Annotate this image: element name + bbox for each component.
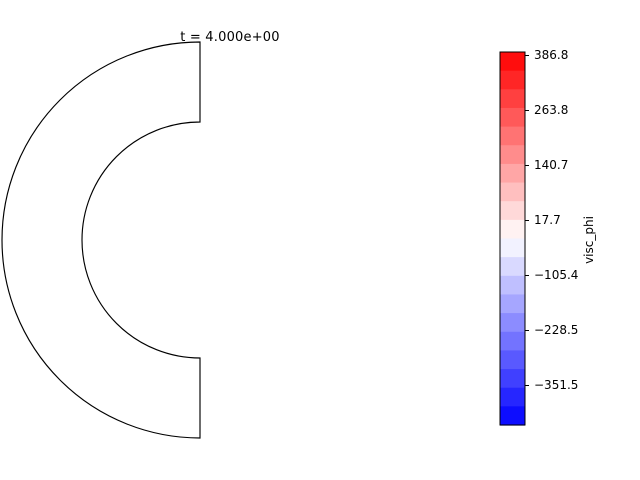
- contour-cell: [211, 106, 213, 107]
- contour-cell: [236, 352, 238, 353]
- contour-cell: [243, 359, 245, 360]
- contour-cell: [292, 313, 294, 315]
- contour-cell: [309, 179, 311, 181]
- contour-cell: [260, 359, 262, 361]
- contour-cell: [317, 192, 319, 194]
- contour-cell: [237, 108, 239, 109]
- contour-cell: [290, 328, 292, 330]
- contour-cell: [270, 137, 272, 139]
- contour-cell: [274, 332, 276, 334]
- contour-cell: [336, 236, 337, 238]
- contour-cell: [317, 220, 318, 222]
- contour-cell: [330, 277, 331, 279]
- contour-cell: [310, 184, 312, 186]
- contour-cell: [321, 247, 322, 249]
- contour-cell: [230, 121, 232, 122]
- contour-cell: [204, 375, 206, 376]
- contour-cell: [310, 195, 311, 197]
- contour-cell: [207, 374, 209, 375]
- contour-cell: [275, 348, 277, 350]
- contour-cell: [209, 103, 211, 104]
- contour-cell: [307, 325, 309, 327]
- contour-cell: [274, 132, 276, 134]
- contour-cell: [254, 360, 256, 362]
- contour-cell: [238, 123, 240, 124]
- contour-cell: [272, 134, 274, 136]
- contour-cell: [222, 107, 224, 108]
- contour-cell: [282, 332, 284, 334]
- contour-cell: [302, 161, 304, 163]
- contour-cell: [285, 155, 287, 157]
- contour-cell: [288, 161, 290, 163]
- contour-cell: [299, 154, 301, 156]
- contour-cell: [214, 365, 216, 366]
- contour-cell: [332, 211, 333, 213]
- contour-cell: [306, 296, 308, 298]
- contour-cell: [335, 246, 336, 248]
- contour-cell: [311, 199, 312, 201]
- contour-cell: [217, 113, 219, 114]
- contour-cell: [285, 148, 287, 150]
- contour-cell: [309, 167, 311, 169]
- contour-cell: [266, 140, 268, 142]
- contour-cell: [253, 362, 255, 364]
- contour-cell: [295, 325, 297, 327]
- contour-cell: [281, 326, 283, 328]
- contour-cell: [307, 174, 309, 176]
- contour-cell: [203, 361, 205, 362]
- contour-cell: [261, 354, 263, 356]
- contour-cell: [329, 267, 330, 269]
- contour-cell: [291, 159, 293, 161]
- contour-cell: [335, 260, 336, 262]
- contour-cell: [288, 158, 290, 160]
- contour-cell: [317, 189, 319, 191]
- contour-cell: [203, 116, 205, 117]
- contour-cell: [293, 145, 295, 147]
- contour-cell: [277, 337, 279, 339]
- contour-cell: [262, 131, 264, 133]
- contour-cell: [211, 122, 213, 123]
- contour-cell: [295, 155, 297, 157]
- contour-cell: [318, 266, 319, 268]
- contour-cell: [295, 314, 297, 316]
- contour-cell: [231, 357, 233, 358]
- contour-cell: [223, 369, 225, 370]
- contour-cell: [319, 292, 321, 294]
- contour-cell: [322, 216, 323, 218]
- contour-cell: [226, 357, 228, 358]
- contour-cell: [291, 152, 293, 154]
- contour-cell: [334, 262, 335, 264]
- contour-cell: [269, 136, 271, 138]
- contour-cell: [229, 122, 231, 123]
- contour-cell: [320, 267, 321, 269]
- contour-cell: [318, 282, 319, 284]
- contour-cell: [318, 189, 320, 191]
- contour-cell: [231, 122, 233, 123]
- contour-cell: [328, 265, 329, 267]
- contour-cell: [288, 153, 290, 155]
- contour-cell: [280, 129, 282, 131]
- contour-cell: [226, 107, 228, 108]
- contour-cell: [284, 136, 286, 138]
- contour-cell: [305, 324, 307, 326]
- contour-cell: [250, 349, 252, 351]
- contour-cell: [264, 123, 266, 125]
- contour-cell: [315, 308, 317, 310]
- contour-cell: [204, 105, 206, 106]
- contour-cell: [216, 369, 218, 370]
- contour-cell: [321, 283, 322, 285]
- contour-cell: [270, 135, 272, 137]
- contour-cell: [231, 109, 233, 110]
- contour-cell: [329, 256, 330, 258]
- contour-cell: [313, 175, 315, 177]
- contour-cell: [226, 356, 228, 357]
- contour-cell: [294, 154, 296, 156]
- contour-cell: [325, 237, 326, 239]
- contour-cell: [328, 231, 329, 233]
- contour-cell: [227, 368, 229, 369]
- contour-cell: [253, 121, 255, 123]
- contour-cell: [248, 357, 250, 359]
- contour-cell: [250, 351, 252, 353]
- contour-cell: [274, 143, 276, 145]
- contour-cell: [211, 120, 213, 121]
- contour-cell: [320, 260, 321, 262]
- contour-cell: [299, 320, 301, 322]
- contour-cell: [306, 316, 308, 318]
- contour-cell: [299, 159, 301, 161]
- contour-cell: [231, 369, 233, 370]
- contour-cell: [234, 124, 236, 125]
- contour-cell: [320, 218, 321, 220]
- contour-cell: [213, 122, 215, 123]
- contour-cell: [205, 363, 207, 364]
- contour-cell: [244, 130, 246, 131]
- contour-cell: [335, 259, 336, 261]
- contour-cell: [323, 252, 324, 254]
- contour-cell: [273, 136, 275, 138]
- contour-cell: [332, 267, 333, 269]
- contour-cell: [252, 347, 254, 349]
- contour-cell: [323, 300, 325, 302]
- contour-cell: [265, 125, 267, 127]
- contour-cell: [317, 214, 318, 216]
- contour-cell: [205, 372, 207, 373]
- contour-cell: [269, 345, 271, 347]
- contour-cell: [325, 271, 326, 273]
- contour-cell: [252, 132, 254, 134]
- contour-cell: [305, 305, 307, 307]
- contour-cell: [309, 289, 311, 291]
- contour-cell: [265, 353, 267, 355]
- contour-cell: [297, 147, 299, 149]
- contour-cell: [245, 122, 247, 124]
- contour-cell: [323, 284, 324, 286]
- contour-cell: [300, 160, 302, 162]
- contour-cell: [306, 295, 308, 297]
- contour-cell: [288, 328, 290, 330]
- contour-cell: [289, 335, 291, 337]
- contour-cell: [232, 110, 234, 111]
- contour-cell: [293, 339, 295, 341]
- contour-cell: [268, 354, 270, 356]
- contour-cell: [289, 332, 291, 334]
- contour-cell: [279, 329, 281, 331]
- contour-cell: [211, 357, 213, 358]
- contour-cell: [330, 233, 331, 235]
- contour-cell: [291, 329, 293, 331]
- contour-cell: [315, 304, 317, 306]
- contour-cell: [303, 160, 305, 162]
- contour-cell: [274, 338, 276, 340]
- contour-cell: [316, 262, 317, 264]
- contour-cell: [248, 353, 250, 355]
- contour-cell: [311, 159, 313, 161]
- contour-cell: [327, 212, 328, 214]
- contour-cell: [334, 231, 335, 233]
- contour-cell: [231, 363, 233, 364]
- contour-cell: [286, 339, 288, 341]
- contour-cell: [301, 159, 303, 161]
- contour-cell: [327, 280, 328, 282]
- contour-cell: [302, 180, 304, 182]
- contour-cell: [319, 253, 320, 255]
- contour-cell: [287, 327, 289, 329]
- contour-cell: [337, 242, 338, 244]
- contour-cell: [309, 301, 311, 303]
- contour-cell: [312, 297, 314, 299]
- contour-cell: [284, 144, 286, 146]
- contour-cell: [334, 212, 335, 214]
- contour-cell: [306, 309, 308, 311]
- contour-cell: [251, 126, 253, 128]
- contour-cell: [285, 140, 287, 142]
- contour-cell: [292, 318, 294, 320]
- contour-cell: [314, 290, 316, 292]
- contour-cell: [278, 149, 280, 151]
- contour-cell: [315, 302, 317, 304]
- contour-cell: [323, 260, 324, 262]
- contour-cell: [313, 201, 314, 203]
- contour-cell: [318, 224, 319, 226]
- contour-cell: [248, 128, 250, 130]
- contour-cell: [335, 233, 336, 235]
- contour-cell: [329, 226, 330, 228]
- contour-cell: [321, 253, 322, 255]
- contour-cell: [295, 162, 297, 164]
- contour-cell: [319, 279, 320, 281]
- contour-cell: [297, 332, 299, 334]
- contour-cell: [218, 106, 220, 107]
- contour-cell: [292, 324, 294, 326]
- contour-cell: [213, 361, 215, 362]
- contour-cell: [287, 324, 289, 326]
- contour-cell: [321, 237, 322, 239]
- contour-cell: [320, 173, 322, 175]
- contour-cell: [294, 152, 296, 154]
- contour-cell: [300, 165, 302, 167]
- contour-cell: [321, 202, 322, 204]
- contour-cell: [207, 104, 209, 105]
- contour-cell: [332, 269, 333, 271]
- contour-cell: [330, 265, 331, 267]
- contour-cell: [328, 206, 329, 208]
- contour-cell: [307, 190, 309, 192]
- contour-cell: [266, 124, 268, 126]
- contour-cell: [318, 250, 319, 252]
- contour-cell: [325, 247, 326, 249]
- contour-cell: [288, 155, 290, 157]
- contour-cell: [235, 352, 237, 353]
- contour-cell: [327, 289, 329, 291]
- contour-cell: [314, 267, 315, 269]
- contour-cell: [235, 357, 237, 358]
- contour-cell: [207, 103, 209, 104]
- contour-cell: [263, 135, 265, 137]
- contour-cell: [305, 304, 307, 306]
- contour-cell: [326, 206, 327, 208]
- contour-cell: [319, 230, 320, 232]
- contour-cell: [295, 335, 297, 337]
- contour-cell: [207, 117, 209, 118]
- contour-cell: [277, 127, 279, 129]
- contour-cell: [265, 346, 267, 348]
- contour-cell: [253, 130, 255, 132]
- contour-cell: [253, 352, 255, 354]
- contour-cell: [270, 131, 272, 133]
- contour-cell: [334, 231, 335, 233]
- contour-cell: [255, 349, 257, 351]
- contour-cell: [203, 116, 205, 117]
- contour-cell: [277, 348, 279, 350]
- contour-cell: [314, 172, 316, 174]
- contour-cell: [329, 202, 330, 204]
- contour-cell: [312, 187, 314, 189]
- contour-cell: [311, 288, 313, 290]
- contour-cell: [251, 365, 253, 367]
- contour-cell: [324, 212, 325, 214]
- contour-cell: [241, 361, 243, 362]
- contour-cell: [286, 336, 288, 338]
- contour-cell: [302, 175, 304, 177]
- contour-cell: [220, 358, 222, 359]
- contour-cell: [210, 120, 212, 121]
- contour-cell: [227, 119, 229, 120]
- contour-cell: [327, 200, 328, 202]
- contour-cell: [327, 265, 328, 267]
- contour-cell: [202, 377, 204, 378]
- contour-cell: [262, 355, 264, 357]
- contour-cell: [272, 146, 274, 148]
- contour-cell: [213, 373, 215, 374]
- contour-cell: [323, 255, 324, 257]
- contour-cell: [291, 144, 293, 146]
- contour-cell: [331, 205, 332, 207]
- contour-cell: [292, 146, 294, 148]
- contour-cell: [314, 293, 316, 295]
- contour-cell: [291, 156, 293, 158]
- contour-cell: [210, 367, 212, 368]
- contour-cell: [312, 282, 313, 284]
- contour-cell: [330, 227, 331, 229]
- contour-cell: [268, 339, 270, 341]
- contour-cell: [245, 365, 247, 367]
- contour-cell: [234, 367, 236, 368]
- contour-cell: [313, 295, 315, 297]
- contour-cell: [279, 326, 281, 328]
- contour-cell: [308, 193, 309, 195]
- contour-cell: [305, 154, 307, 156]
- contour-cell: [293, 328, 295, 330]
- contour-cell: [310, 173, 312, 175]
- contour-cell: [230, 368, 232, 369]
- contour-cell: [322, 176, 324, 178]
- contour-cell: [334, 223, 335, 225]
- contour-cell: [290, 325, 292, 327]
- contour-cell: [255, 130, 257, 132]
- contour-cell: [292, 160, 294, 162]
- contour-cell: [253, 365, 255, 367]
- contour-cell: [331, 216, 332, 218]
- contour-cell: [314, 209, 315, 211]
- contour-cell: [328, 258, 329, 260]
- contour-cell: [328, 200, 329, 202]
- contour-cell: [333, 206, 334, 208]
- contour-cell: [307, 302, 309, 304]
- contour-cell: [247, 360, 249, 362]
- contour-cell: [273, 126, 275, 128]
- contour-cell: [299, 170, 301, 172]
- contour-cell: [277, 133, 279, 135]
- contour-cell: [320, 305, 322, 307]
- contour-cell: [205, 364, 207, 365]
- contour-cell: [326, 197, 327, 199]
- contour-cell: [316, 165, 318, 167]
- contour-cell: [320, 182, 322, 184]
- contour-cell: [247, 114, 249, 116]
- contour-cell: [330, 236, 331, 238]
- contour-cell: [220, 373, 222, 374]
- contour-cell: [205, 120, 207, 121]
- contour-cell: [227, 363, 229, 364]
- contour-cell: [317, 287, 319, 289]
- contour-cell: [220, 110, 222, 111]
- contour-cell: [284, 336, 286, 338]
- contour-cell: [302, 178, 304, 180]
- contour-cell: [274, 335, 276, 337]
- contour-cell: [315, 209, 316, 211]
- contour-cell: [217, 115, 219, 116]
- contour-cell: [257, 350, 259, 352]
- contour-cell: [274, 131, 276, 133]
- contour-cell: [320, 300, 322, 302]
- contour-cell: [220, 121, 222, 122]
- contour-cell: [326, 231, 327, 233]
- contour-cell: [222, 375, 224, 376]
- contour-cell: [202, 376, 204, 377]
- contour-cell: [275, 352, 277, 354]
- contour-cell: [296, 309, 298, 311]
- contour-cell: [243, 349, 245, 350]
- contour-cell: [209, 107, 211, 108]
- contour-cell: [287, 158, 289, 160]
- contour-cell: [268, 338, 270, 340]
- contour-cell: [301, 306, 303, 308]
- contour-cell: [331, 262, 332, 264]
